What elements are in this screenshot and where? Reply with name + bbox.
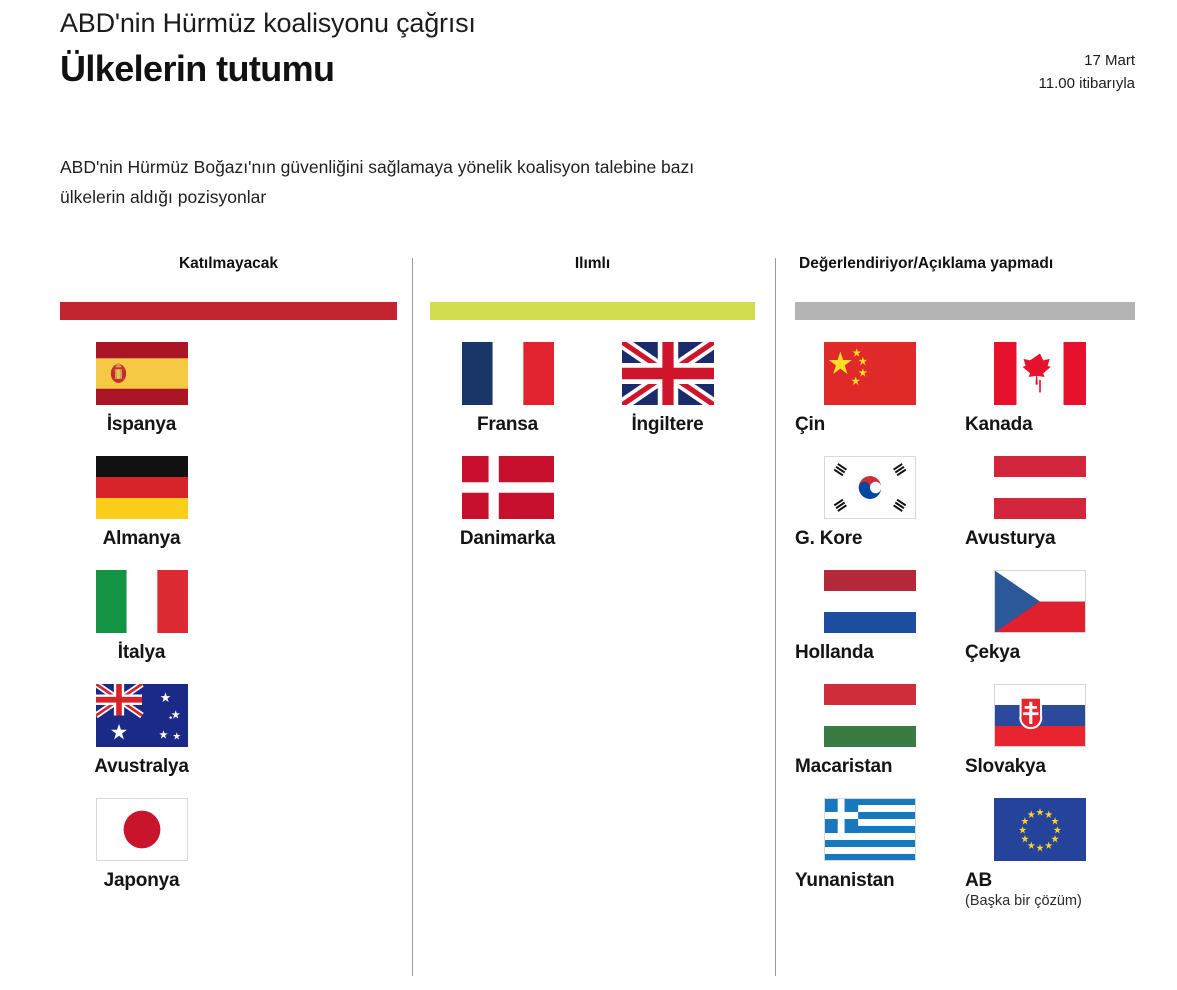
column-katilmayacak: Katılmayacak İspanya Almanya İtalya [60,255,397,904]
hungary-flag-icon [824,684,916,756]
column-divider-2 [775,258,776,976]
infographic-page: ABD'nin Hürmüz koalisyonu çağrısı Ülkele… [0,0,1177,990]
country-label: G. Kore [795,528,945,550]
country-grid: Fransa İngiltere Danimarka [430,342,755,562]
date-stamp: 17 Mart 11.00 itibarıyla [1039,50,1135,95]
country-grid: İspanya Almanya İtalya Avustralya Japony… [60,342,397,904]
country-label: Danimarka [460,528,555,550]
country-label: Fransa [477,414,538,436]
country-cell-denmark: Danimarka [430,456,585,562]
country-label: Çekya [965,642,1115,664]
country-cell-greece: Yunanistan [795,798,945,921]
country-cell-hungary: Macaristan [795,684,945,790]
column-title: Katılmayacak [60,255,397,281]
country-grid: Çin Kanada G. Kore Avus [795,342,1135,921]
country-cell-japan: Japonya [60,798,223,904]
column-color-bar [795,302,1135,320]
country-cell-china: Çin [795,342,945,448]
japan-flag-icon [96,798,188,870]
country-label: Avustralya [94,756,188,778]
czechia-flag-icon [994,570,1086,642]
france-flag-icon [462,342,554,414]
slovakia-flag-icon [994,684,1086,756]
country-label: İtalya [118,642,165,664]
subtitle-text: ABD'nin Hürmüz Boğazı'nın güvenliğini sa… [60,152,760,212]
column-title: Değerlendiriyor/Açıklama yapmadı [795,255,1135,281]
country-cell-slovakia: Slovakya [965,684,1115,790]
denmark-flag-icon [462,456,554,528]
country-cell-france: Fransa [430,342,585,448]
greece-flag-icon [824,798,916,870]
page-title: Ülkelerin tutumu [60,48,334,90]
country-label: Slovakya [965,756,1115,778]
spain-flag-icon [96,342,188,414]
country-cell-eu: AB(Başka bir çözüm) [965,798,1115,921]
country-label: İspanya [107,414,176,436]
country-label: Japonya [104,870,180,892]
germany-flag-icon [96,456,188,528]
country-cell-netherlands: Hollanda [795,570,945,676]
country-label: Macaristan [795,756,945,778]
column-ilimli: Ilımlı Fransa İngiltere Danimarka [430,255,755,562]
country-label: Kanada [965,414,1115,436]
date-line-2: 11.00 itibarıyla [1039,73,1135,96]
column-degerlendiriyor: Değerlendiriyor/Açıklama yapmadı Çin Kan… [795,255,1135,921]
kicker-text: ABD'nin Hürmüz koalisyonu çağrısı [60,8,476,39]
country-note: (Başka bir çözüm) [965,893,1115,909]
country-label: Almanya [103,528,181,550]
country-label: AB [965,870,1115,892]
austria-flag-icon [994,456,1086,528]
country-cell-italy: İtalya [60,570,223,676]
country-cell-austria: Avusturya [965,456,1115,562]
country-cell-canada: Kanada [965,342,1115,448]
australia-flag-icon [96,684,188,756]
country-label: Hollanda [795,642,945,664]
canada-flag-icon [994,342,1086,414]
country-cell-australia: Avustralya [60,684,223,790]
date-line-1: 17 Mart [1039,50,1135,73]
column-color-bar [430,302,755,320]
italy-flag-icon [96,570,188,642]
country-label: Avusturya [965,528,1115,550]
country-cell-germany: Almanya [60,456,223,562]
column-divider-1 [412,258,413,976]
country-label: Yunanistan [795,870,945,892]
country-cell-uk: İngiltere [590,342,745,448]
southkorea-flag-icon [824,456,916,528]
column-color-bar [60,302,397,320]
uk-flag-icon [622,342,714,414]
column-title: Ilımlı [430,255,755,281]
china-flag-icon [824,342,916,414]
country-cell-spain: İspanya [60,342,223,448]
country-label: Çin [795,414,945,436]
country-cell-czechia: Çekya [965,570,1115,676]
netherlands-flag-icon [824,570,916,642]
country-label: İngiltere [631,414,703,436]
country-cell-southkorea: G. Kore [795,456,945,562]
eu-flag-icon [994,798,1086,870]
